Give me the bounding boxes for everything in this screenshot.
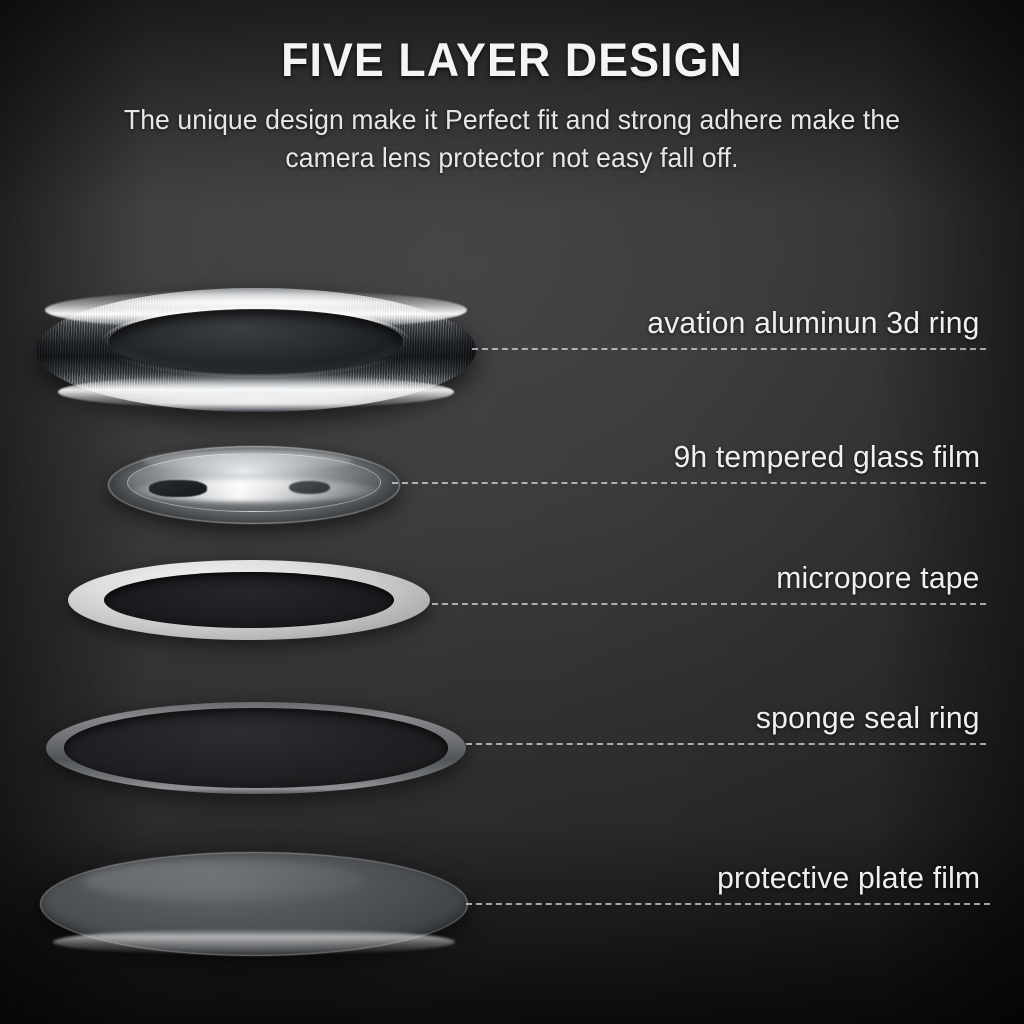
aluminium-ring-3d-art (36, 288, 476, 412)
layer-label-protective-plate: protective plate film (717, 860, 980, 896)
subtitle-line-1: The unique design make it Perfect fit an… (58, 101, 965, 139)
product-infographic-poster: FIVE LAYER DESIGN The unique design make… (0, 0, 1024, 1024)
leader-line-protective-plate (466, 903, 990, 905)
glass-edge-ring (108, 446, 400, 524)
tempered-glass-disc-art (108, 446, 400, 524)
sponge-inner-cutout (64, 708, 449, 787)
ring-inner-bevel (103, 307, 409, 376)
plate-edge-rim (40, 852, 468, 956)
leader-line-tempered-glass (392, 482, 986, 484)
layer-label-aluminium-ring: avation aluminun 3d ring (648, 305, 980, 341)
sponge-seal-ring-art (46, 702, 466, 794)
ring-bottom-highlight (58, 375, 454, 409)
leader-line-sponge-seal (466, 743, 986, 745)
leader-line-aluminium-ring (472, 348, 986, 350)
layer-label-tempered-glass: 9h tempered glass film (673, 439, 980, 475)
tape-inner-cutout (104, 572, 394, 628)
protective-plate-disc-art (40, 852, 468, 956)
page-title: FIVE LAYER DESIGN (26, 32, 999, 87)
subtitle-line-2: camera lens protector not easy fall off. (58, 139, 965, 177)
layer-label-sponge-seal: sponge seal ring (756, 700, 980, 736)
layer-label-micropore-tape: micropore tape (777, 560, 980, 596)
micropore-tape-ring-art (68, 560, 430, 640)
page-subtitle: The unique design make it Perfect fit an… (58, 101, 965, 177)
leader-line-micropore-tape (432, 603, 986, 605)
